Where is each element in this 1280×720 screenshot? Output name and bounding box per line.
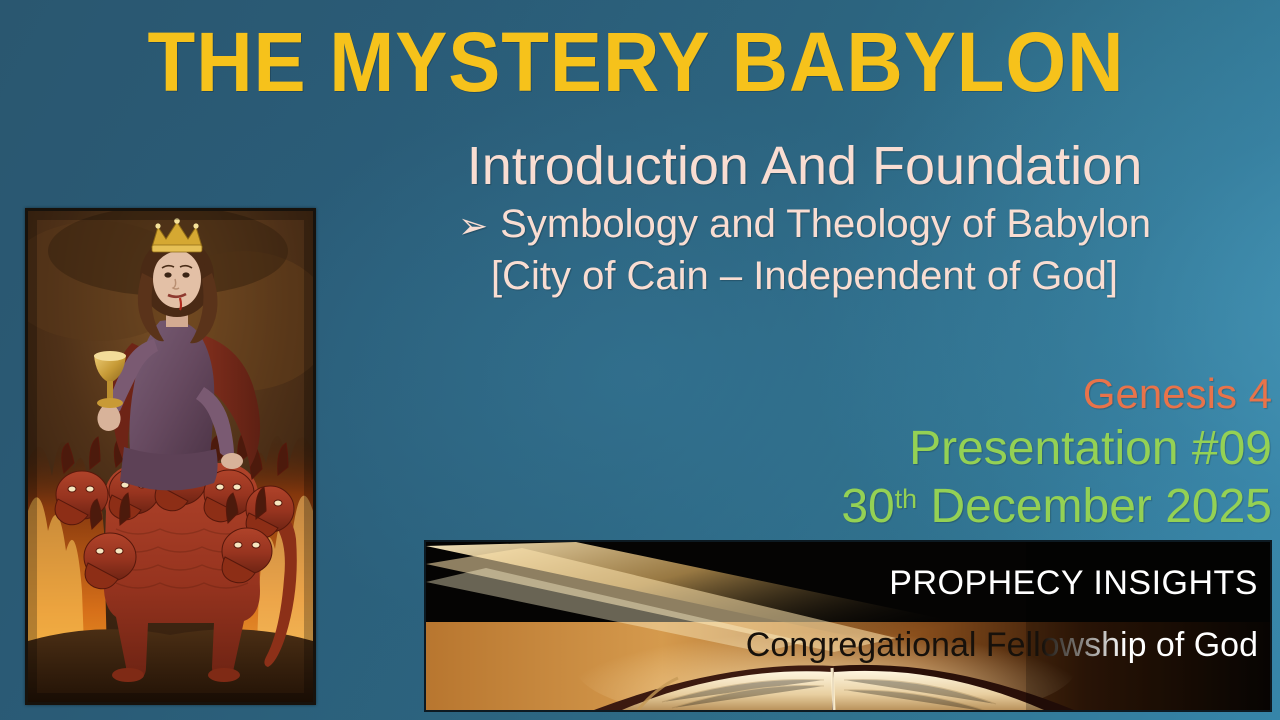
presentation-slide: THE MYSTERY BABYLON Introduction And Fou… [0, 0, 1280, 720]
artwork-frame [25, 208, 316, 705]
meta-block: Genesis 4 Presentation #09 30th December… [841, 368, 1272, 536]
bullet-item-symbology-label: Symbology and Theology of Babylon [500, 202, 1151, 246]
arrow-bullet-icon: ➢ [458, 201, 488, 251]
presentation-date-ordinal: th [895, 484, 917, 514]
presentation-date: 30th December 2025 [841, 478, 1272, 536]
presentation-date-day: 30 [841, 480, 894, 533]
whore-of-babylon-painting-icon [28, 211, 313, 702]
bullet-item-city-of-cain: [City of Cain – Independent of God] [337, 251, 1272, 301]
ministry-banner: PROPHECY INSIGHTS Congregational Fellows… [424, 540, 1272, 712]
page-title: THE MYSTERY BABYLON [45, 14, 1228, 110]
subtitle-heading: Introduction And Foundation [337, 133, 1272, 199]
open-bible-with-light-rays-icon [426, 542, 1270, 710]
bullet-item-symbology: ➢Symbology and Theology of Babylon [337, 199, 1272, 251]
presentation-number: Presentation #09 [841, 420, 1272, 478]
scripture-reference: Genesis 4 [841, 368, 1272, 420]
subtitle-block: Introduction And Foundation ➢Symbology a… [337, 133, 1272, 301]
presentation-date-rest: December 2025 [917, 480, 1272, 533]
